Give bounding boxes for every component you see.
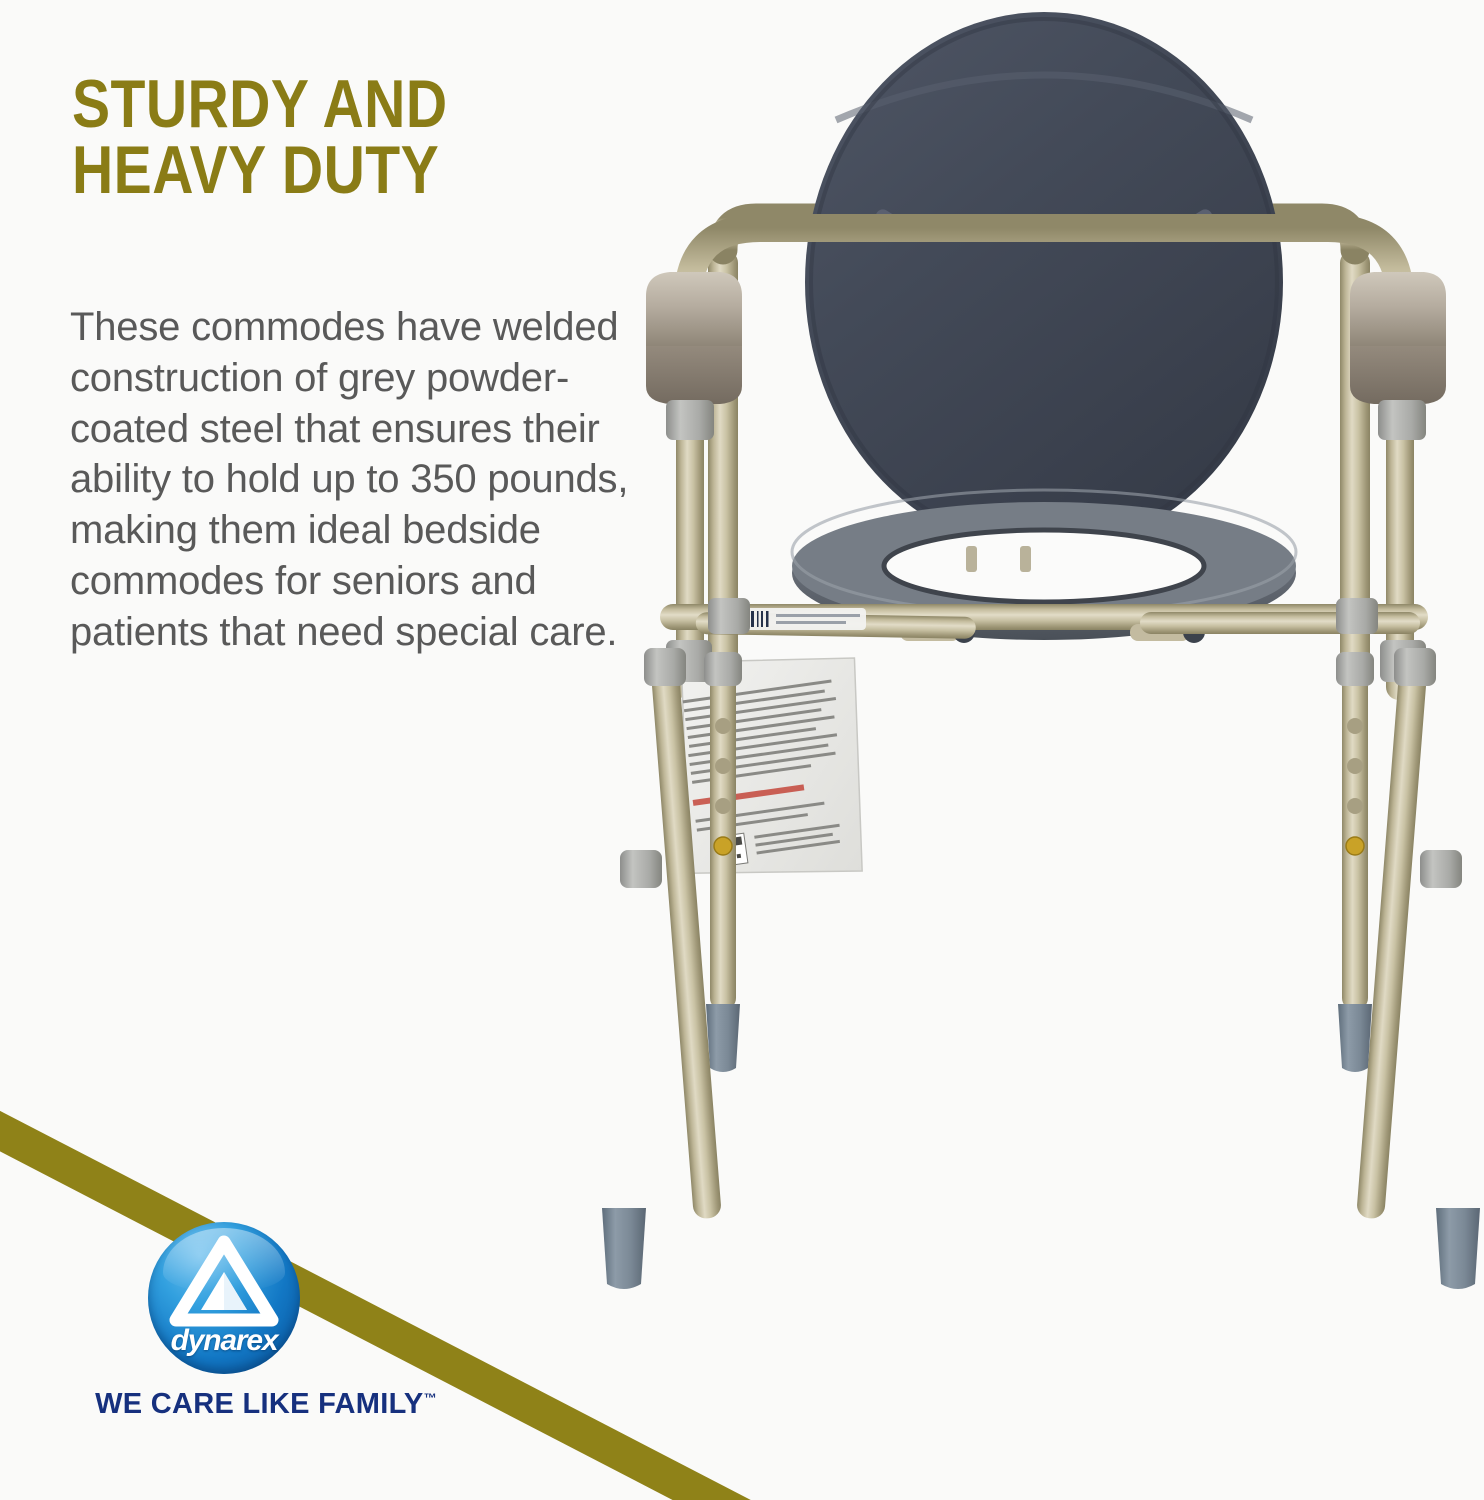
page-title: STURDY AND HEAVY DUTY	[72, 72, 632, 204]
headline-line-1: STURDY AND	[72, 72, 542, 138]
brand-logo: dynarex WE CARE LIKE FAMILY™	[66, 1222, 466, 1421]
armrest-pad-right	[1350, 272, 1446, 404]
headline-line-2: HEAVY DUTY	[72, 138, 542, 204]
commode-lid	[805, 12, 1283, 553]
dynarex-wordmark: dynarex	[148, 1324, 300, 1358]
leg-back-right	[1336, 652, 1374, 1072]
dynarex-badge-icon: dynarex	[148, 1222, 300, 1374]
leg-front-right	[1356, 648, 1480, 1289]
trademark-symbol: ™	[424, 1390, 437, 1405]
body-paragraph: These commodes have welded construction …	[70, 302, 655, 658]
armrest-pad-left	[646, 272, 742, 404]
brand-tagline-text: WE CARE LIKE FAMILY	[95, 1388, 423, 1420]
brand-tagline: WE CARE LIKE FAMILY™	[66, 1388, 466, 1421]
product-feature-card: STURDY AND HEAVY DUTY These commodes hav…	[0, 0, 1484, 1500]
product-image-commode-chair	[600, 0, 1484, 1350]
